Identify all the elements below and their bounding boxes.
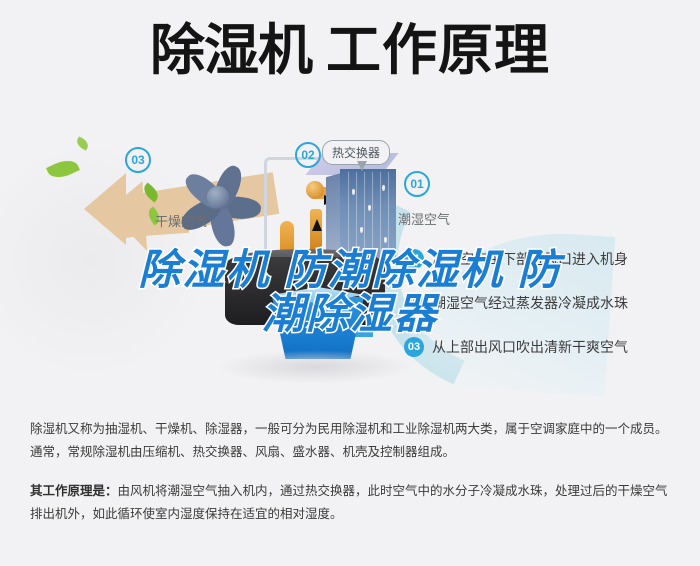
callout-pointer-icon: [357, 161, 367, 171]
water-tank-label: 水箱: [262, 315, 374, 332]
callout-label-heat-exchanger: 热交换器: [322, 140, 390, 165]
step-text-02: 潮湿空气经过蒸发器冷凝成水珠: [432, 293, 628, 313]
fan-illustration: [181, 161, 273, 247]
list-item: 02 潮湿空气经过蒸发器冷凝成水珠: [404, 292, 694, 314]
steps-list: 01 潮湿空气由下部进风口进入机身 02 潮湿空气经过蒸发器冷凝成水珠 03 从…: [404, 248, 694, 380]
step-badge-03: 03: [404, 337, 424, 357]
machine-shadow: [215, 350, 415, 384]
title-part-2: 工作原理: [326, 19, 550, 81]
page-title: 除湿机工作原理: [0, 22, 700, 80]
paragraph-2-lead: 其工作原理是：: [30, 484, 118, 498]
callout-badge-02: 02: [295, 142, 321, 168]
fan-hub: [207, 186, 229, 208]
heat-exchanger-block: [322, 155, 400, 263]
infographic-page: 除湿机工作原理: [0, 0, 700, 566]
dry-air-arrow-tip: [84, 173, 126, 245]
paragraph-2: 其工作原理是：由风机将潮湿空气抽入机内，通过热交换器，此时空气中的水分子冷凝成水…: [30, 480, 672, 526]
step-text-01: 潮湿空气由下部进风口进入机身: [432, 249, 628, 269]
list-item: 03 从上部出风口吹出清新干爽空气: [404, 336, 694, 358]
step-text-03: 从上部出风口吹出清新干爽空气: [432, 337, 628, 357]
refrigerant-pipe: [310, 209, 322, 253]
paragraph-2-rest: 由风机将潮湿空气抽入机内，通过热交换器，此时空气中的水分子冷凝成水珠，处理过后的…: [30, 484, 668, 521]
step-badge-01: 01: [404, 249, 424, 269]
body-text: 除湿机又称为抽湿机、干燥机、除湿器，一般可分为民用除湿机和工业除湿机两大类，属于…: [30, 418, 672, 542]
callout-label-dry-air: 干燥空气: [155, 211, 207, 230]
flow-arrow-icon: [312, 219, 322, 231]
callout-badge-01: 01: [404, 171, 430, 197]
paragraph-1: 除湿机又称为抽湿机、干燥机、除湿器，一般可分为民用除湿机和工业除湿机两大类，属于…: [30, 418, 672, 464]
callout-badge-03: 03: [125, 147, 151, 173]
title-part-1: 除湿机: [150, 19, 312, 81]
step-badge-02: 02: [404, 293, 424, 313]
list-item: 01 潮湿空气由下部进风口进入机身: [404, 248, 694, 270]
callout-label-moist-air: 潮湿空气: [398, 209, 450, 228]
